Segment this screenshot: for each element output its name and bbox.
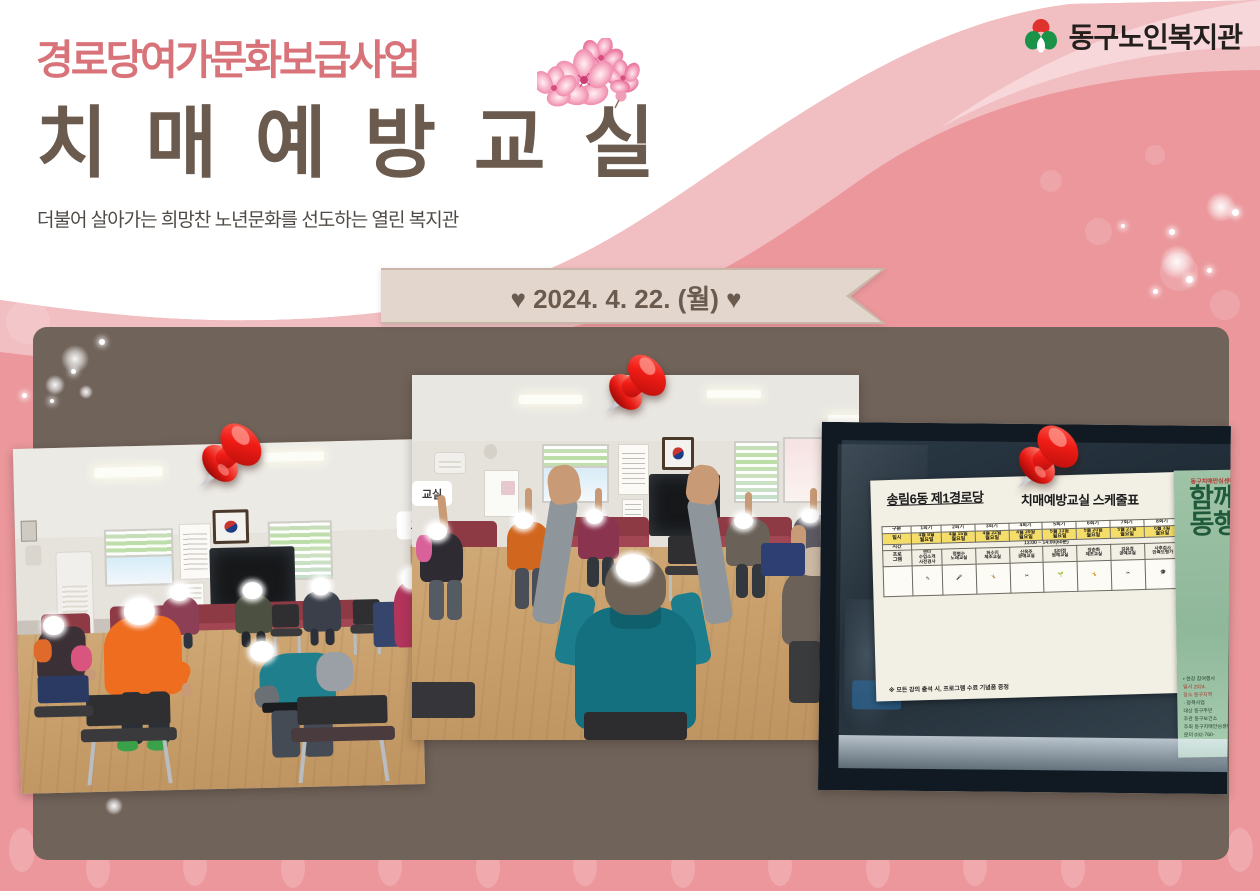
program-icon-craft-2: ✂ — [1111, 558, 1146, 589]
event-date: ♥ 2024. 4. 22. (월) ♥ — [381, 266, 871, 328]
schedule-table: 구분 1회기 2회기 3회기 4회기 5회기 6회기 7회기 8회기 일시 4월… — [881, 518, 1183, 597]
green-poster-details: • 현장 참여행사 일시 2024. 장소 동구지역 · 정책사업 대상 동구주… — [1183, 675, 1231, 740]
date-ribbon: ♥ 2024. 4. 22. (월) ♥ — [381, 266, 906, 328]
poster-title-left: 송림6동 제1경로당 — [887, 486, 984, 508]
cell-program-label: 프로 그램 — [882, 550, 912, 566]
cell-date-label: 일시 — [882, 532, 912, 544]
cell-date-5: 5월 13일 월요일 — [1043, 527, 1077, 539]
green-poster: 동구치매안심센터 함께 동행 • 현장 참여행사 일시 2024. 장소 동구지… — [1174, 470, 1231, 758]
program-icon-singing: 🎤 — [942, 563, 977, 594]
icon-cell-label — [883, 565, 914, 596]
poster-footnote: ※ 모든 강의 출석 시, 프로그램 수료 기념품 증정 — [889, 681, 1009, 693]
cell-date-3: 4월 22일 월요일 — [975, 529, 1009, 541]
cell-program-3: 허수지 체조교실 — [976, 547, 1010, 563]
cell-date-4: 4월 29일 월요일 — [1009, 528, 1043, 540]
cell-program-7: 강유경 공예교실 — [1111, 543, 1145, 559]
cell-date-1: 4월 8일 월요일 — [912, 531, 942, 543]
kicker-title: 경로당여가문화보급사업 — [36, 40, 418, 81]
cell-date-2: 4월 15일 월요일 — [941, 530, 975, 542]
pushpin-icon-left — [170, 402, 281, 513]
cell-program-6: 장춘화 체조교실 — [1077, 544, 1111, 560]
cell-program-1: 센타 수업소개 사전검사 — [912, 549, 942, 565]
program-icon-exercise-2: 🤸 — [1077, 559, 1112, 590]
dongu-clover-emblem-icon — [1022, 17, 1060, 55]
cell-program-2: 정병수 노래교실 — [942, 548, 976, 564]
cell-program-5: 김미정 원예교실 — [1043, 545, 1077, 561]
poster-root: 경로당여가문화보급사업 치 매 예 방 교 실 더불어 살아가는 희망찬 노년문… — [0, 0, 1260, 891]
tagline: 더불어 살아가는 희망찬 노년문화를 선도하는 열린 복지관 — [37, 205, 458, 232]
cell-date-7: 5월 27일 월요일 — [1110, 526, 1144, 538]
organization-name: 동구노인복지관 — [1069, 16, 1242, 56]
program-icon-gardening: 🌱 — [1044, 560, 1079, 591]
green-poster-headline: 함께 동행 — [1174, 486, 1231, 538]
organization-logo: 동구노인복지관 — [1022, 14, 1242, 58]
cell-program-4: 신옥주 공예교실 — [1009, 546, 1043, 562]
cherry-blossom-icon — [537, 38, 641, 118]
program-icon-craft: ✂ — [1010, 561, 1045, 592]
pushpin-icon-right — [987, 404, 1098, 515]
cell-date-6: 5월 20일 월요일 — [1076, 527, 1110, 539]
program-icon-pencil: ✎ — [913, 564, 944, 595]
program-icon-exercise: 🤸 — [976, 562, 1011, 593]
